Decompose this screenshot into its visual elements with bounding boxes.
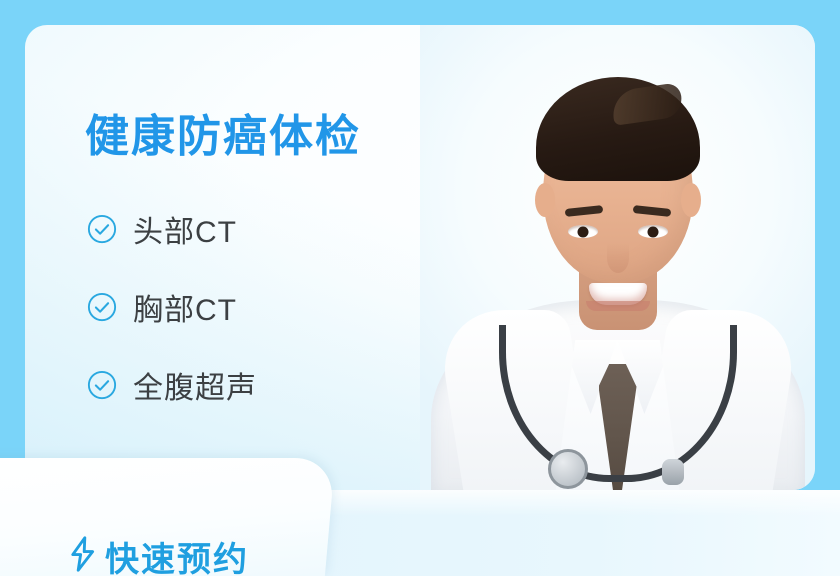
check-circle-icon <box>87 292 117 322</box>
check-circle-icon <box>87 214 117 244</box>
ear-right <box>681 183 701 217</box>
nose <box>607 243 629 273</box>
ear-left <box>535 183 555 217</box>
doctor-photo <box>420 25 815 490</box>
health-checkup-banner: 健康防癌体检 头部CT 胸部CT <box>0 0 840 576</box>
pupil-right <box>647 226 658 237</box>
lower-lip <box>586 301 650 311</box>
hair <box>536 77 700 181</box>
pupil-left <box>577 226 588 237</box>
bottom-bar: 快速预约 常见高发恶性肿瘤筛查 <box>0 490 840 576</box>
eye-left <box>568 225 598 238</box>
eye-right <box>638 225 668 238</box>
hair-highlight <box>609 82 683 125</box>
lightning-bolt-icon <box>68 536 98 572</box>
page-title: 健康防癌体检 <box>85 100 361 164</box>
list-item: 全腹超声 <box>87 346 257 424</box>
list-item: 头部CT <box>87 190 257 268</box>
banner-card: 健康防癌体检 头部CT 胸部CT <box>25 25 815 490</box>
quick-booking-label[interactable]: 快速预约 <box>105 532 249 576</box>
eyebrow-right <box>632 205 671 217</box>
stethoscope-chestpiece <box>548 449 588 489</box>
stethoscope-earpiece <box>662 459 684 485</box>
eyebrow-left <box>564 205 603 217</box>
feature-label: 头部CT <box>133 207 237 251</box>
list-item: 胸部CT <box>87 268 257 346</box>
feature-label: 全腹超声 <box>133 363 257 407</box>
feature-list: 头部CT 胸部CT 全腹超声 <box>87 190 257 424</box>
check-circle-icon <box>87 370 117 400</box>
feature-label: 胸部CT <box>133 285 237 329</box>
doctor-figure <box>453 25 783 490</box>
